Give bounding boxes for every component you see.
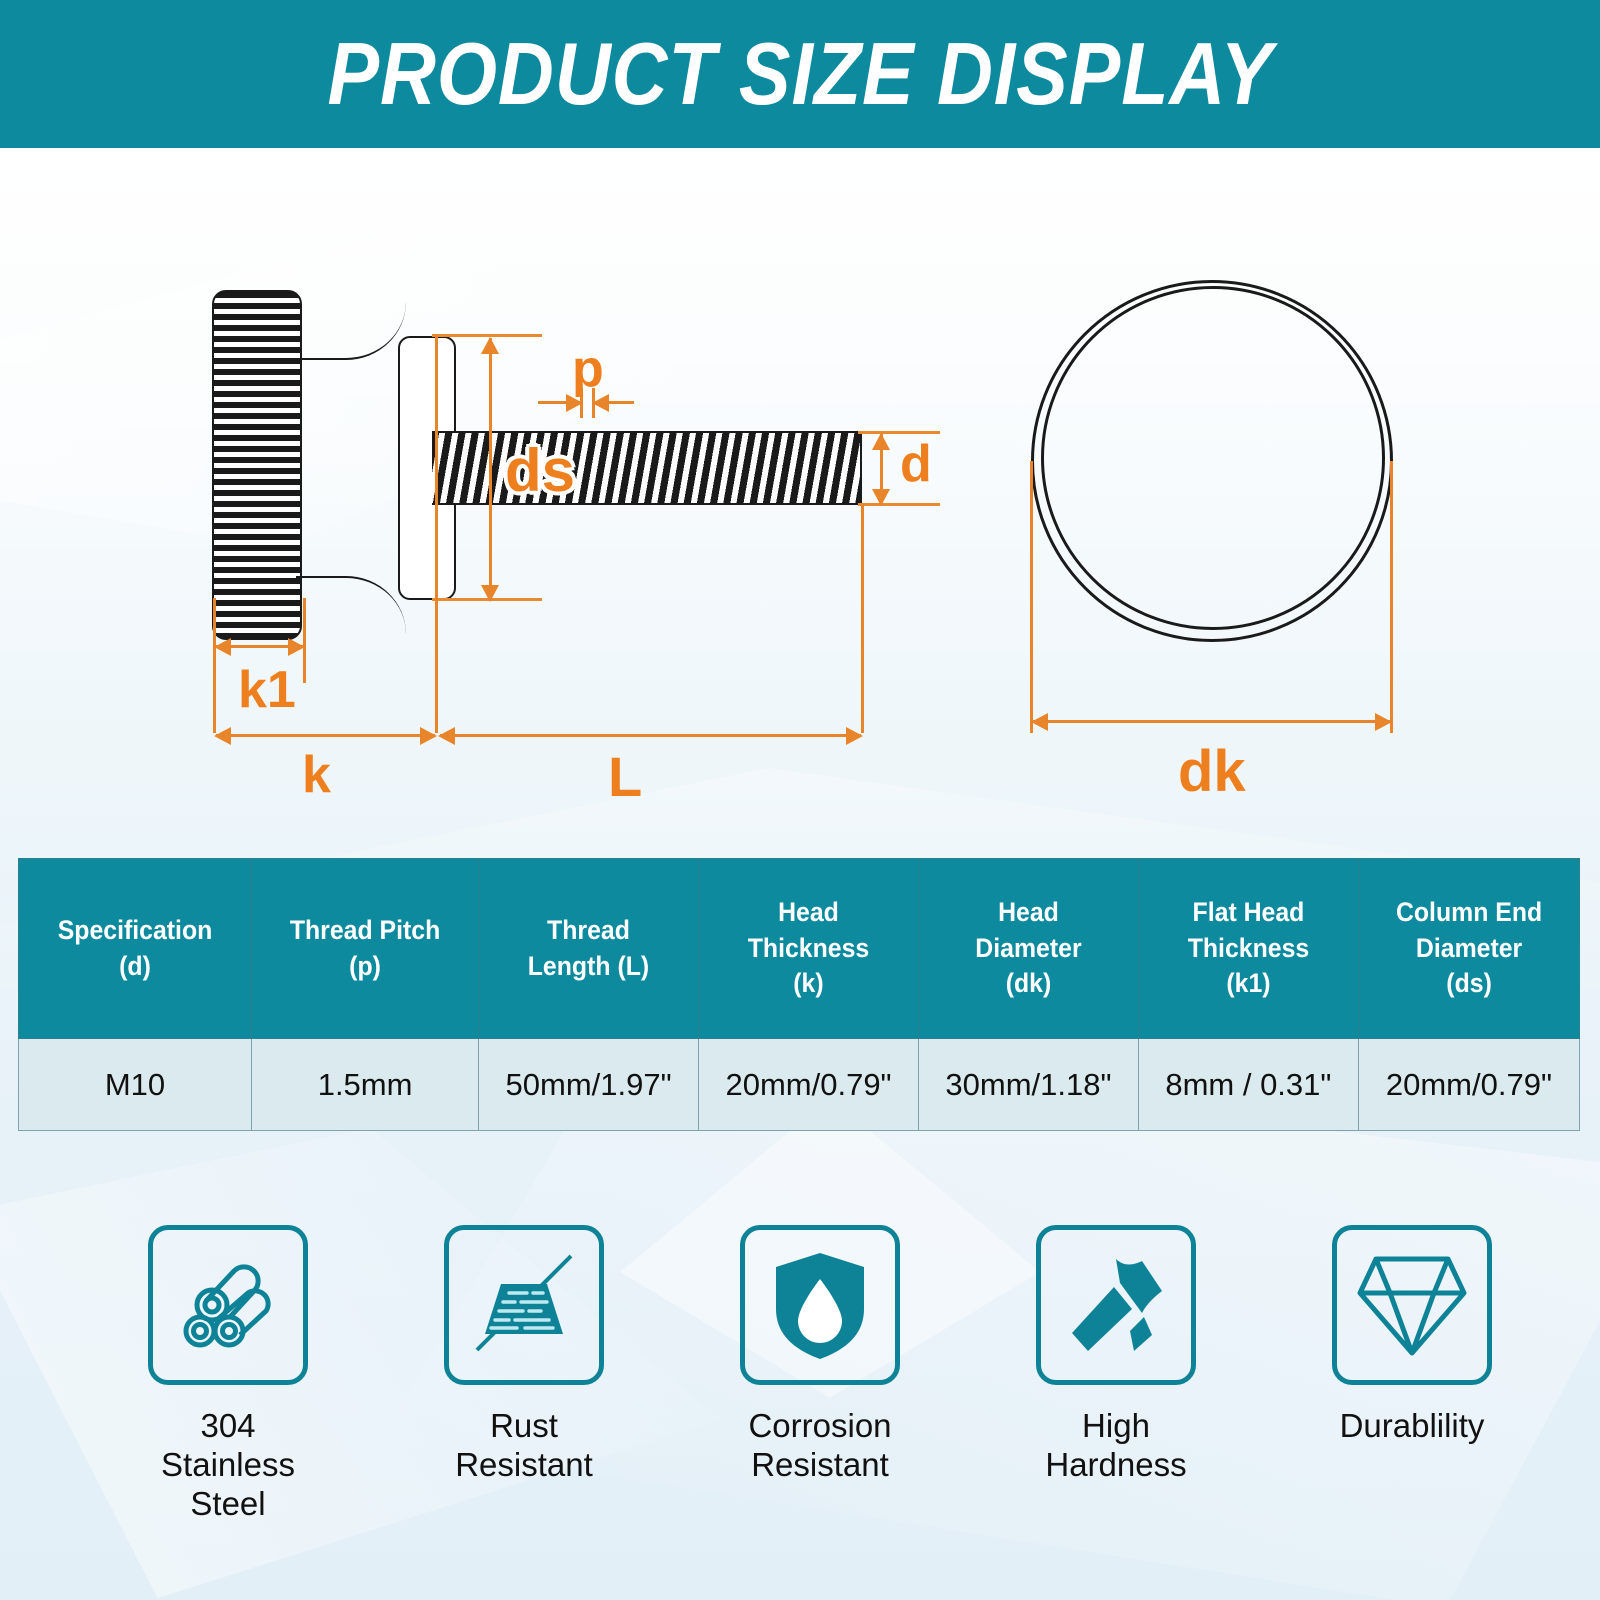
feature-label: Durablility	[1340, 1407, 1485, 1446]
k-dimension-line	[216, 734, 435, 737]
dk-label: dk	[1178, 743, 1246, 801]
d-arrow-down-icon	[872, 489, 890, 506]
header-line-3: (k1)	[1151, 966, 1345, 1002]
ds-label: ds	[505, 441, 575, 501]
shield-droplet-icon	[740, 1225, 900, 1385]
header-line-2: (d)	[32, 949, 238, 985]
header-line-2: Diameter	[1371, 931, 1566, 967]
ds-dimension-line	[489, 338, 492, 600]
k1-arrow-right-icon	[288, 638, 305, 656]
header-line-3: (ds)	[1371, 966, 1566, 1002]
column-header-thread-length: Thread Length (L)	[479, 859, 699, 1039]
head-inner-circle	[1041, 286, 1385, 630]
k1-label: k1	[238, 664, 296, 716]
feature-item-corrosion-resistant: Corrosion Resistant	[715, 1225, 925, 1485]
header-line-1: Specification	[32, 913, 238, 949]
dk-arrow-left-icon	[1031, 713, 1048, 731]
table-header-row: Specification (d) Thread Pitch (p) Threa…	[19, 859, 1580, 1039]
column-header-head-diameter: Head Diameter (dk)	[919, 859, 1139, 1039]
head-neck-top-curve	[296, 298, 406, 360]
header-line-3: (k)	[712, 966, 906, 1002]
dk-extension-left	[1030, 461, 1033, 733]
cell-thread-length: 50mm/1.97"	[479, 1039, 699, 1131]
header-line-1: Thread	[492, 913, 686, 949]
column-header-flat-head-thickness: Flat Head Thickness (k1)	[1138, 859, 1358, 1039]
L-arrow-right-icon	[846, 727, 863, 745]
p-label: p	[572, 343, 604, 395]
cell-column-end-diameter: 20mm/0.79"	[1358, 1039, 1579, 1131]
d-arrow-up-icon	[872, 433, 890, 450]
column-header-specification: Specification (d)	[19, 859, 252, 1039]
page-title: PRODUCT SIZE DISPLAY	[327, 23, 1273, 125]
hammer-icon	[1036, 1225, 1196, 1385]
header-line-1: Column End	[1371, 895, 1566, 931]
header-line-1: Head	[712, 895, 906, 931]
header-line-3: (dk)	[931, 966, 1125, 1002]
d-extension-bottom	[858, 503, 940, 506]
feature-label: High Hardness	[1045, 1407, 1186, 1485]
page-header: PRODUCT SIZE DISPLAY	[0, 0, 1600, 148]
L-dimension-line	[440, 734, 861, 737]
cell-thread-pitch: 1.5mm	[252, 1039, 479, 1131]
feature-label: 304 Stainless Steel	[123, 1407, 333, 1524]
feature-item-rust-resistant: Rust Resistant	[419, 1225, 629, 1485]
table-row: M10 1.5mm 50mm/1.97" 20mm/0.79" 30mm/1.1…	[19, 1039, 1580, 1131]
diamond-icon	[1332, 1225, 1492, 1385]
k-label: k	[302, 749, 331, 801]
header-line-2: Thickness	[1151, 931, 1345, 967]
k-arrow-left-icon	[214, 727, 231, 745]
feature-list: 304 Stainless Steel	[0, 1225, 1600, 1565]
d-label: d	[900, 438, 932, 490]
dk-arrow-right-icon	[1375, 713, 1392, 731]
dk-dimension-line	[1033, 720, 1391, 723]
k-extension-right	[435, 334, 438, 733]
L-label: L	[608, 749, 642, 805]
k1-extension-left	[213, 598, 216, 733]
head-neck-bottom-curve	[296, 576, 406, 638]
ds-arrow-up-icon	[481, 337, 499, 354]
threaded-shank-shape	[432, 431, 862, 505]
column-header-head-thickness: Head Thickness (k)	[699, 859, 919, 1039]
header-line-1: Head	[931, 895, 1125, 931]
header-line-1: Thread Pitch	[265, 913, 466, 949]
steel-pipes-icon	[148, 1225, 308, 1385]
column-header-thread-pitch: Thread Pitch (p)	[252, 859, 479, 1039]
product-technical-drawing: ds p d k1 k L dk	[0, 148, 1600, 848]
feature-item-304-stainless-steel: 304 Stainless Steel	[123, 1225, 333, 1524]
feature-item-durability: Durablility	[1307, 1225, 1517, 1446]
feature-item-high-hardness: High Hardness	[1011, 1225, 1221, 1485]
k-arrow-right-icon	[420, 727, 437, 745]
ds-arrow-down-icon	[481, 585, 499, 602]
cell-head-diameter: 30mm/1.18"	[919, 1039, 1139, 1131]
feature-label: Corrosion Resistant	[748, 1407, 891, 1485]
dk-extension-right	[1390, 461, 1393, 733]
rust-resistant-icon	[444, 1225, 604, 1385]
knurled-head-shape	[212, 290, 302, 640]
cell-head-thickness: 20mm/0.79"	[699, 1039, 919, 1131]
d-extension-top	[858, 431, 940, 434]
header-line-2: Diameter	[931, 931, 1125, 967]
k1-arrow-left-icon	[214, 638, 231, 656]
column-header-column-end-diameter: Column End Diameter (ds)	[1358, 859, 1579, 1039]
cell-flat-head-thickness: 8mm / 0.31"	[1138, 1039, 1358, 1131]
header-line-1: Flat Head	[1151, 895, 1345, 931]
L-extension-right	[861, 503, 864, 733]
cell-specification: M10	[19, 1039, 252, 1131]
L-arrow-left-icon	[438, 727, 455, 745]
specification-table: Specification (d) Thread Pitch (p) Threa…	[18, 858, 1580, 1131]
header-line-2: Length (L)	[492, 949, 686, 985]
header-line-2: Thickness	[712, 931, 906, 967]
feature-label: Rust Resistant	[455, 1407, 593, 1485]
header-line-2: (p)	[265, 949, 466, 985]
